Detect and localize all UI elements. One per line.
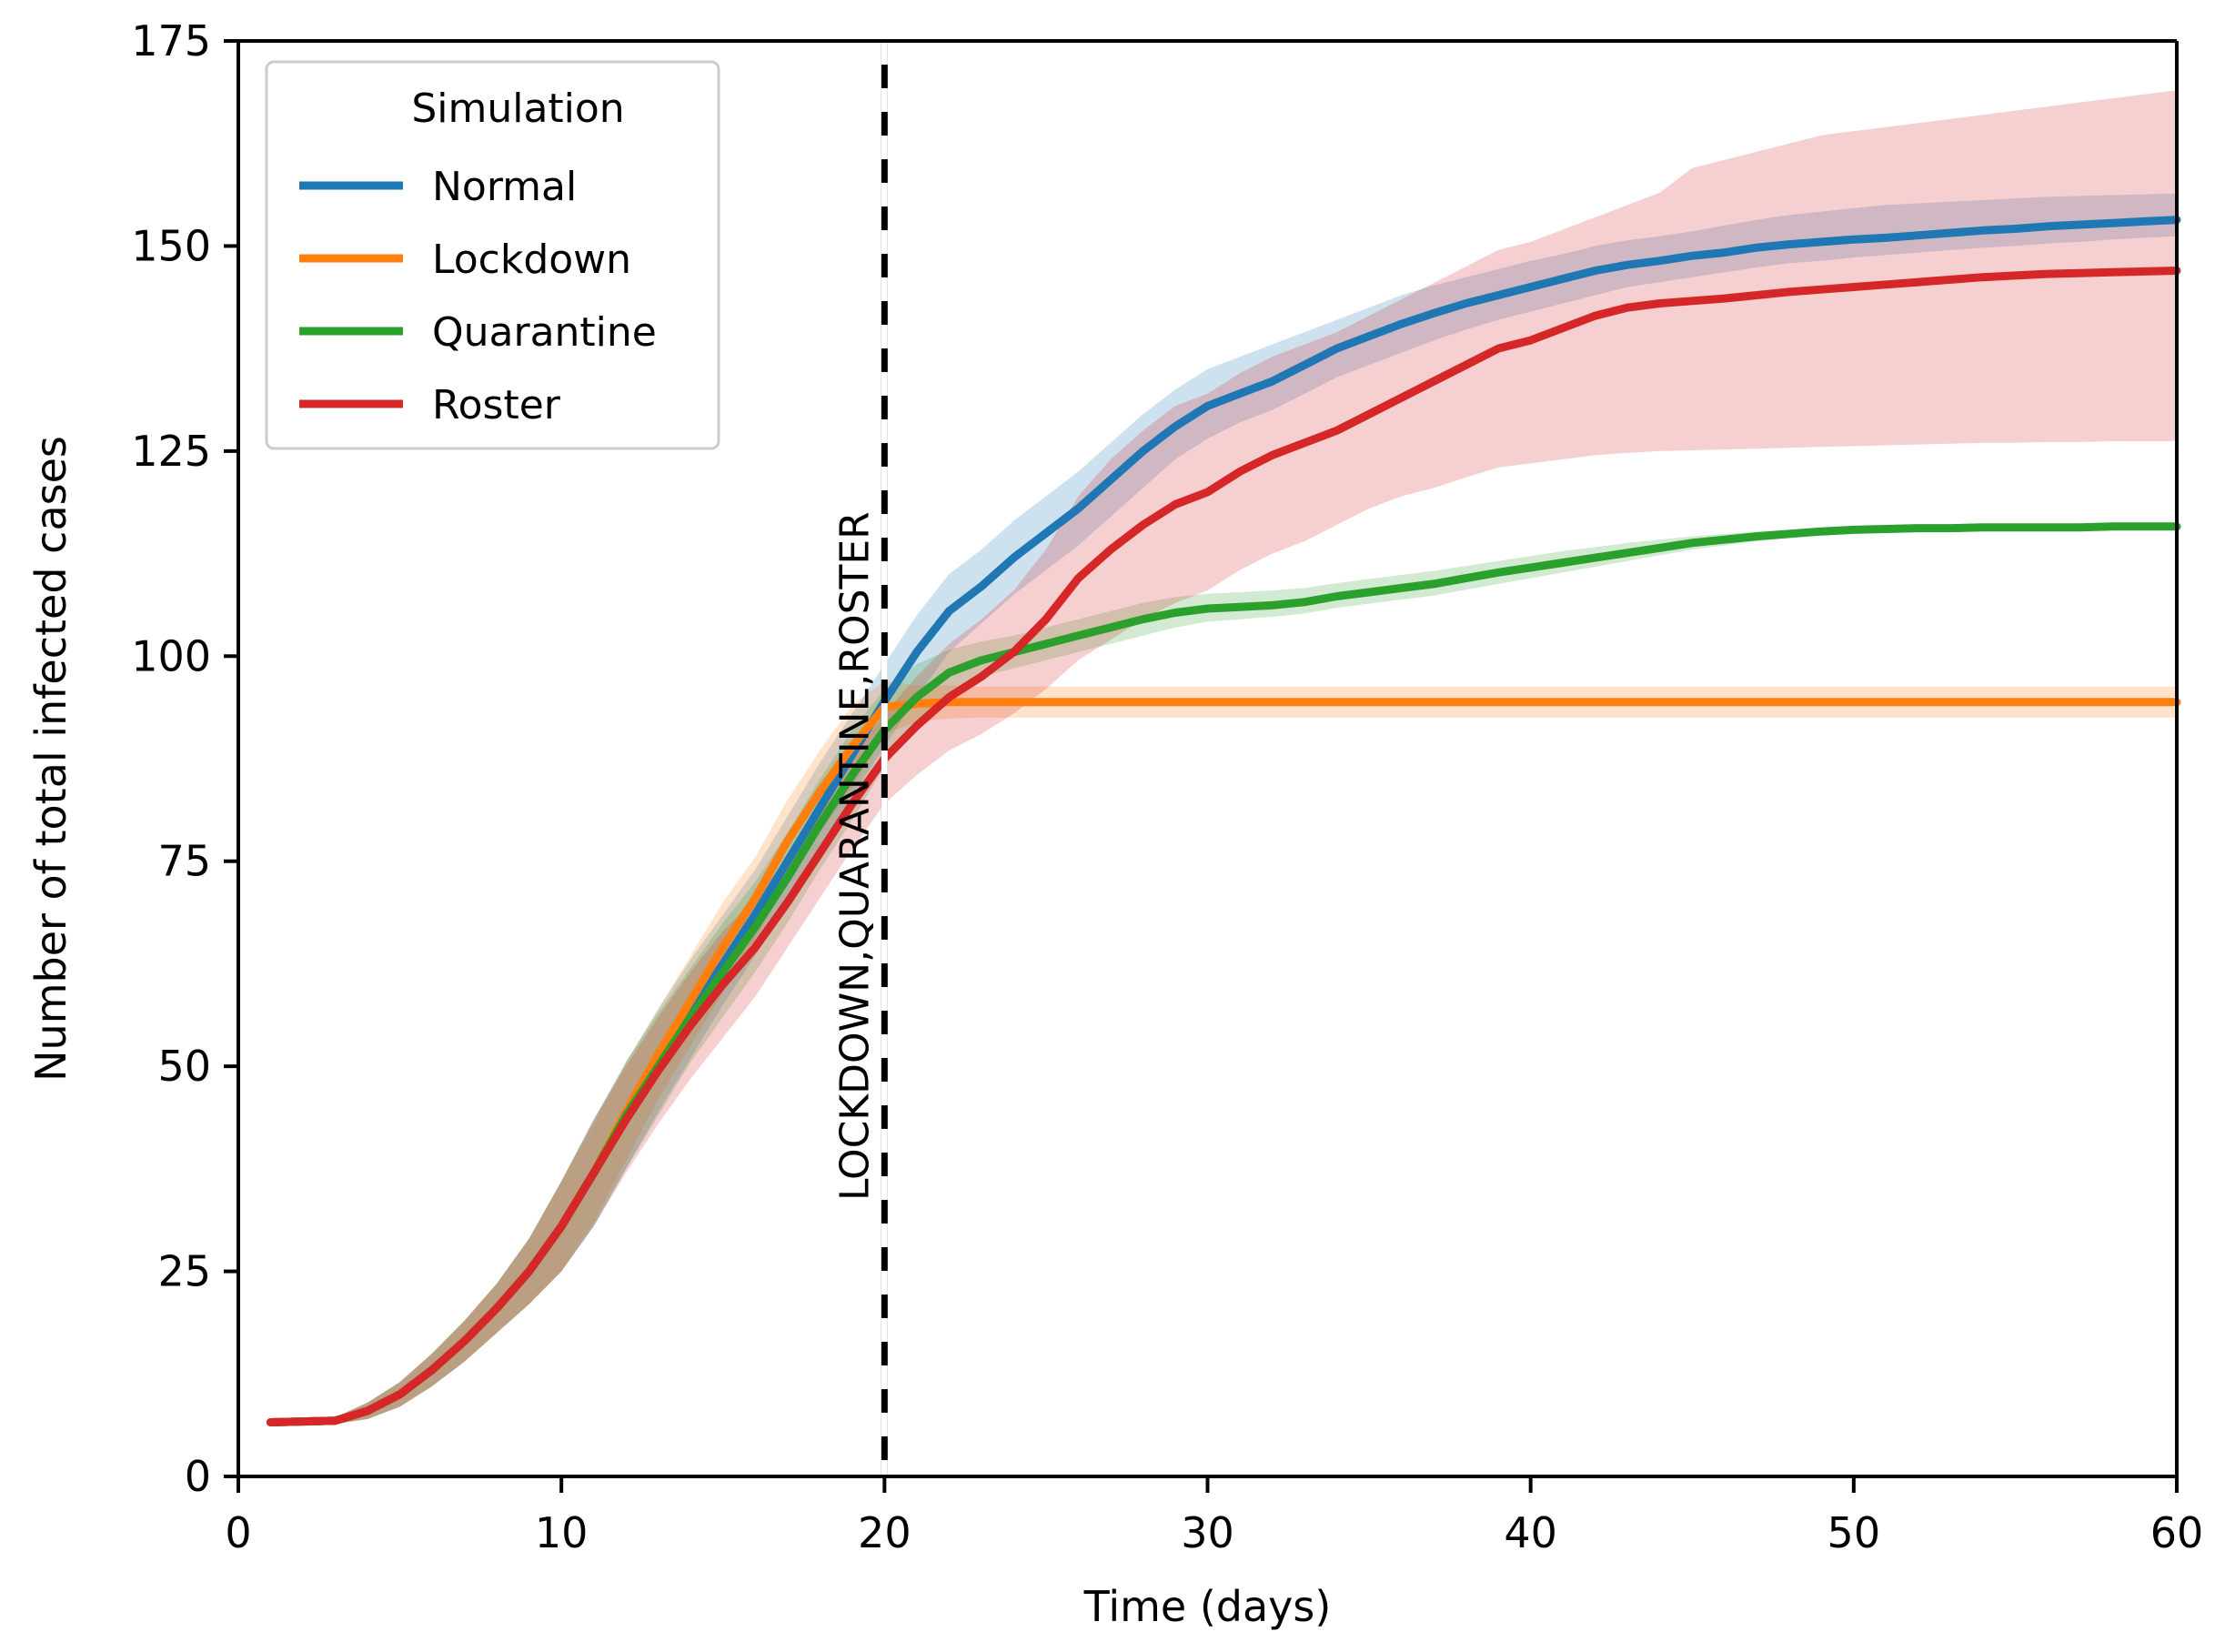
x-tick-label: 30 [1181,1508,1234,1557]
intervention-line-layer: LOCKDOWN,QUARANTINE,ROSTER [831,41,884,1476]
legend-label-normal: Normal [432,164,577,210]
legend[interactable]: SimulationNormalLockdownQuarantineRoster [267,62,719,448]
x-tick-label: 10 [535,1508,589,1557]
x-tick-label: 60 [2150,1508,2204,1557]
x-axis-title: Time (days) [1083,1582,1332,1631]
x-tick-label: 0 [225,1508,251,1557]
y-tick-label: 150 [131,221,211,270]
series-line-quarantine [271,527,2178,1423]
y-tick-label: 75 [157,837,211,886]
x-tick-label: 40 [1504,1508,1557,1557]
y-tick-label: 100 [131,631,211,680]
y-tick-label: 50 [157,1042,211,1091]
series-line-lockdown [271,702,2178,1423]
confidence-band-lockdown [271,680,2178,1425]
x-tick-label: 50 [1827,1508,1881,1557]
legend-label-quarantine: Quarantine [432,309,657,356]
legend-label-lockdown: Lockdown [432,237,631,283]
figure-canvas: LOCKDOWN,QUARANTINE,ROSTER 0255075100125… [0,0,2215,1652]
x-tick-label: 20 [858,1508,911,1557]
y-tick-label: 175 [131,16,211,65]
y-tick-label: 25 [157,1247,211,1296]
confidence-band-quarantine [271,523,2178,1425]
legend-label-roster: Roster [432,382,561,428]
intervention-line-label: LOCKDOWN,QUARANTINE,ROSTER [831,511,878,1201]
legend-title: Simulation [411,86,624,132]
y-tick-label: 0 [185,1452,211,1501]
y-axis-title: Number of total infected cases [26,436,76,1082]
chart-svg: LOCKDOWN,QUARANTINE,ROSTER 0255075100125… [0,0,2215,1652]
y-tick-label: 125 [131,427,211,476]
